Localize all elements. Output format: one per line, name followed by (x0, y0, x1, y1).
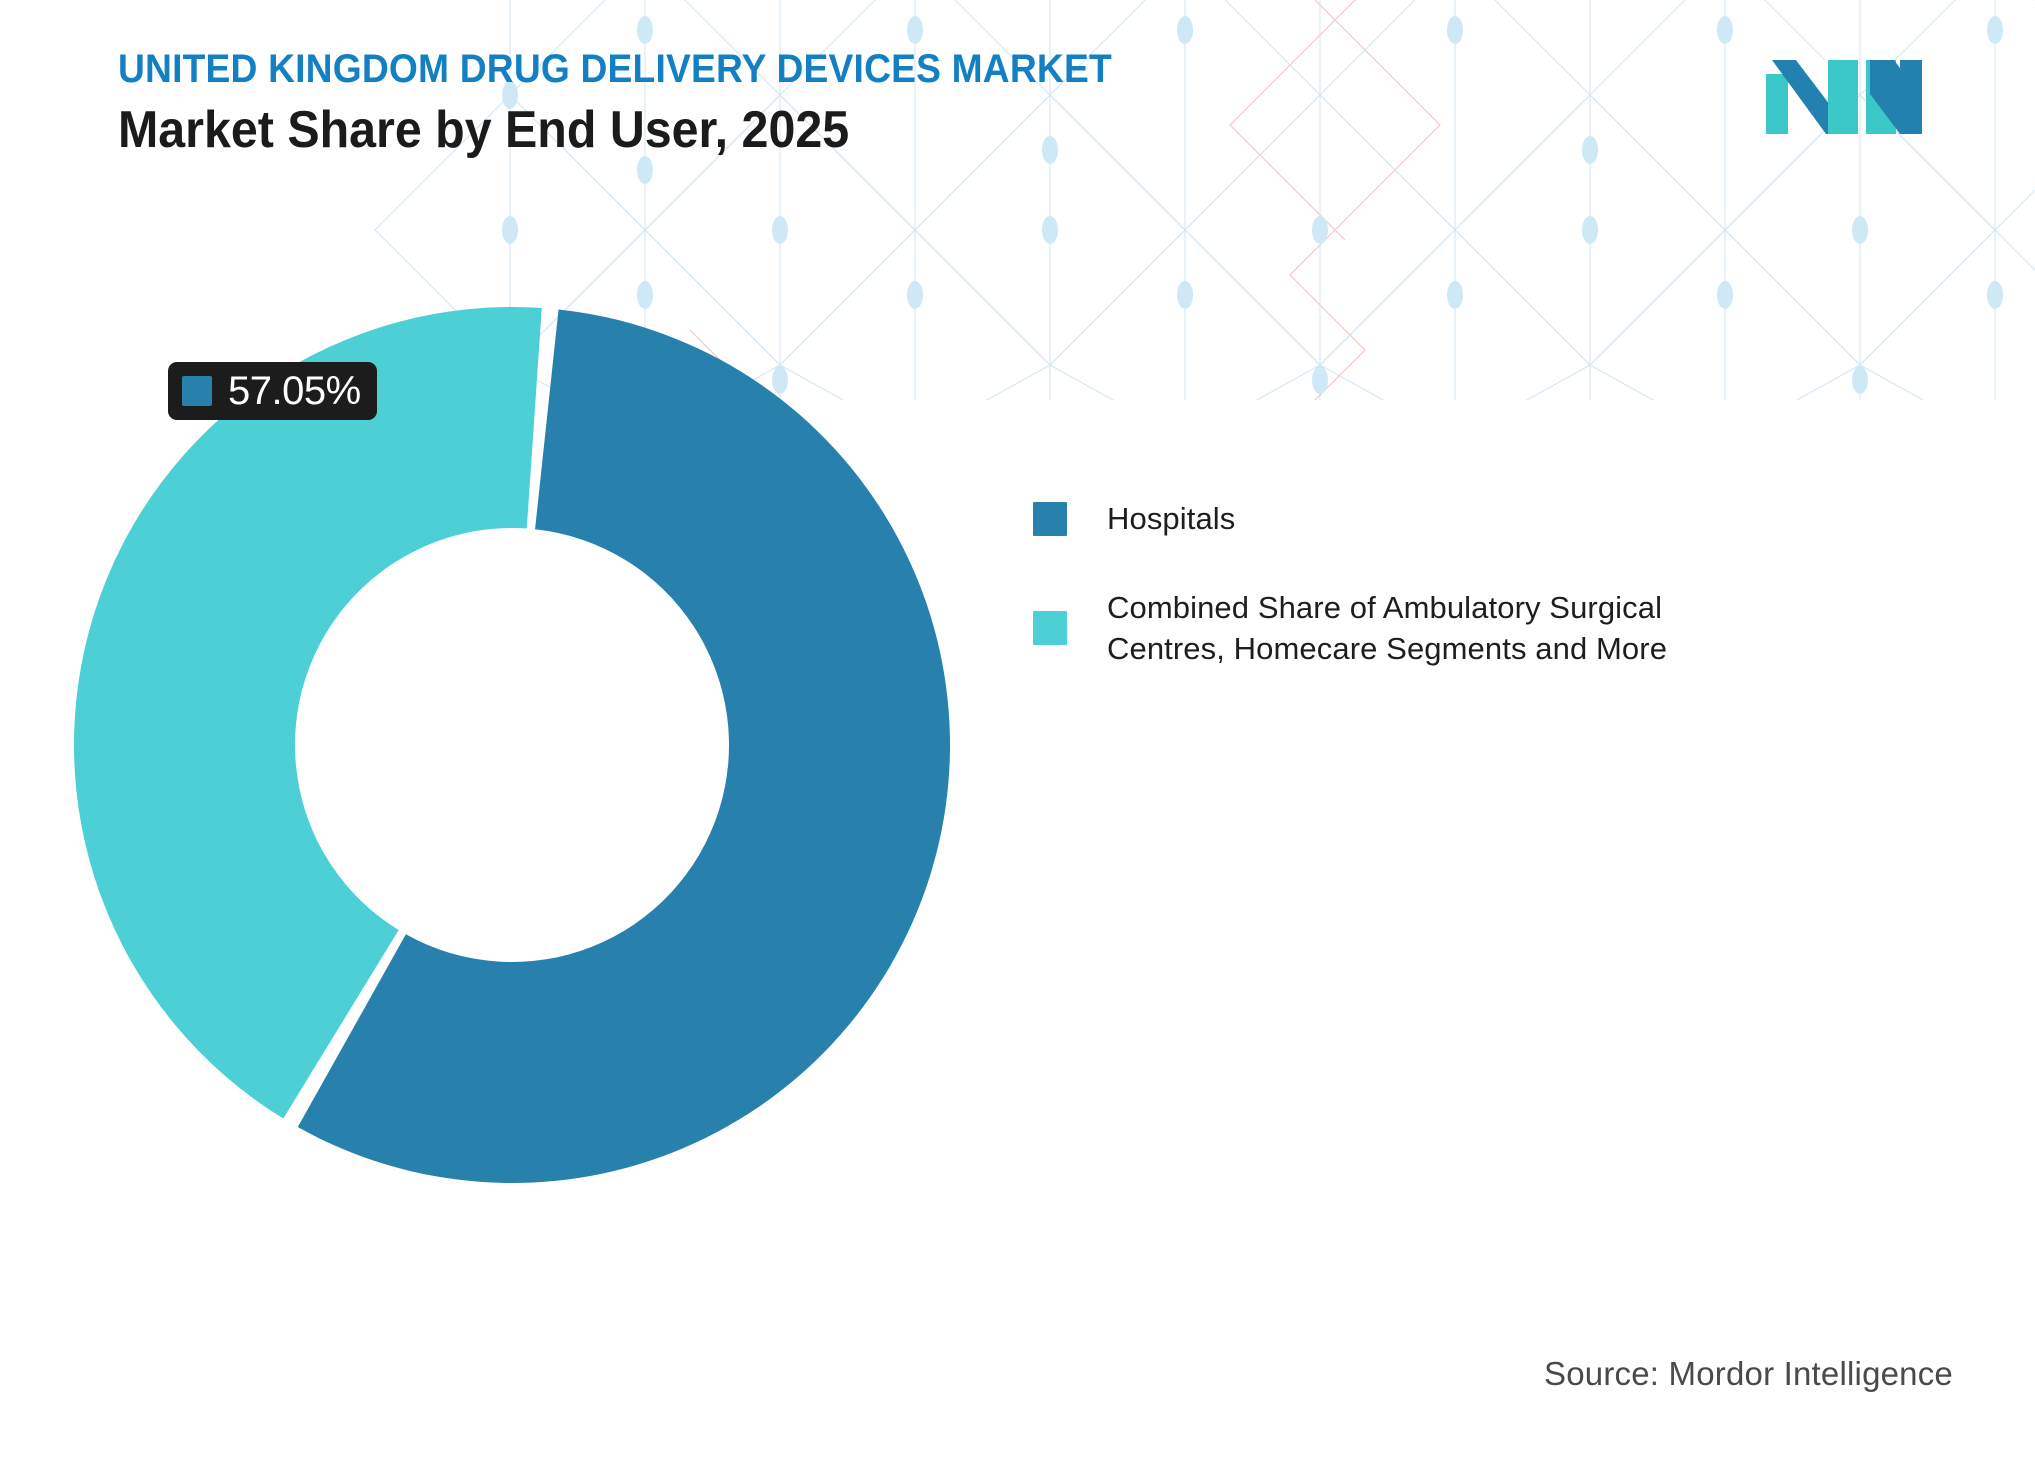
logo-stroke-teal-right (1828, 60, 1858, 134)
legend-item-combined-share[interactable]: Combined Share of Ambulatory Surgical Ce… (1033, 587, 1673, 669)
chart-title: UNITED KINGDOM DRUG DELIVERY DEVICES MAR… (118, 48, 1420, 90)
legend-label-hospitals: Hospitals (1107, 498, 1235, 539)
legend-swatch-hospitals (1033, 502, 1067, 536)
chart-page: UNITED KINGDOM DRUG DELIVERY DEVICES MAR… (0, 0, 2035, 1480)
legend-label-combined-share: Combined Share of Ambulatory Surgical Ce… (1107, 587, 1673, 669)
callout-color-swatch (182, 376, 212, 406)
chart-legend: Hospitals Combined Share of Ambulatory S… (1033, 498, 1673, 718)
donut-chart-svg (72, 305, 952, 1185)
donut-slices (74, 307, 950, 1183)
source-attribution: Source: Mordor Intelligence (1544, 1355, 1953, 1393)
chart-subtitle: Market Share by End User, 2025 (118, 102, 1420, 158)
logo-stroke-blue-right (1900, 60, 1922, 134)
legend-swatch-combined-share (1033, 611, 1067, 645)
chart-header: UNITED KINGDOM DRUG DELIVERY DEVICES MAR… (118, 48, 1518, 158)
donut-chart (72, 305, 952, 1185)
mordor-intelligence-logo (1766, 56, 1922, 134)
legend-item-hospitals[interactable]: Hospitals (1033, 498, 1673, 539)
data-label-callout: 57.05% (168, 362, 377, 420)
logo-stroke-teal-left (1766, 74, 1788, 134)
callout-value: 57.05% (228, 371, 361, 411)
